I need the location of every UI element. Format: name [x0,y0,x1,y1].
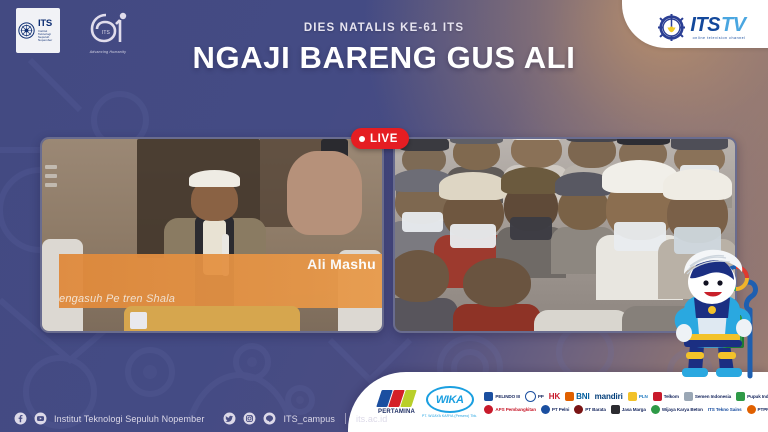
social-handle-institution: Institut Teknologi Sepuluh Nopember [54,414,204,424]
twitter-icon[interactable] [223,412,236,425]
sponsor-row-2: APS Pembangkitan PT Pelni PT Barata Jasa… [484,405,768,414]
website-url: its.ac.id [356,414,387,424]
status-badge-live: LIVE [351,128,409,149]
mascot-head [684,250,742,304]
sponsor-wika-label: WIKA [426,386,474,413]
sponsor-logo: PT Pelni [541,405,569,414]
sponsor-logo: BNI [565,392,589,401]
line-icon[interactable] [263,412,276,425]
sponsor-pertamina: PERTAMINA [378,390,415,415]
page-title: NGAJI BARENG GUS ALI [0,40,768,76]
sponsor-wika-sub: PT. WIJAYA KARYA (Persero) Tbk. [422,414,477,418]
event-kicker: DIES NATALIS KE-61 ITS [0,22,768,34]
sponsor-logo: Wijaya Karya Beton [651,405,703,414]
its-anniversary-mascot [660,248,764,380]
sponsor-logo: ITS Tekno Sains [708,407,742,412]
sponsor-logo: Telkom [653,392,679,401]
live-dot-icon [359,136,365,142]
sponsor-bar: PERTAMINA WIKA PT. WIJAYA KARYA (Persero… [348,372,768,432]
sponsor-logo: HK [549,392,560,401]
lower-third-role: engasuh Pe tren Shala [59,293,175,305]
pertamina-arrows-icon [379,390,414,407]
video-panels: Ali Mashu engasuh Pe tren Shala [40,137,737,333]
sponsor-logo: mandiri [595,392,623,401]
social-bar: Institut Teknologi Sepuluh Nopember ITS_… [14,412,387,425]
sponsor-logo: Jasa Marga [611,405,646,414]
sponsor-small-logos: PELINDO III PP HK BNI mandiri PLN Telkom… [484,391,768,414]
sponsor-row-1: PELINDO III PP HK BNI mandiri PLN Telkom… [484,391,768,402]
video-panel-speaker[interactable]: Ali Mashu engasuh Pe tren Shala [40,137,384,333]
lower-third-banner: Ali Mashu engasuh Pe tren Shala [59,254,382,308]
sponsor-logo: Semen Indonesia [684,392,731,401]
broadcast-overlay: ITS Institut Teknologi Sepuluh Nopember … [0,0,768,432]
mascot-legs [682,344,742,377]
divider [345,413,346,424]
sponsor-logo: APS Pembangkitan [484,405,536,414]
sponsor-logo: Pupuk Indonesia [736,392,768,401]
headline-block: DIES NATALIS KE-61 ITS NGAJI BARENG GUS … [0,22,768,76]
live-label: LIVE [370,133,398,145]
lower-third-name: Ali Mashu [307,256,376,272]
youtube-icon[interactable] [34,412,47,425]
sponsor-logo: PT Barata [574,405,606,414]
sponsor-logo: PP [525,391,544,402]
facebook-icon[interactable] [14,412,27,425]
social-handle-campus: ITS_campus [283,414,335,424]
sponsor-logo: PLN [628,392,648,401]
speaker-scene: Ali Mashu engasuh Pe tren Shala [42,139,382,331]
sponsor-logo: PELINDO III [484,392,519,401]
instagram-icon[interactable] [243,412,256,425]
sponsor-logo: PTPN [747,405,768,414]
sponsor-wika: WIKA PT. WIJAYA KARYA (Persero) Tbk. [422,386,477,418]
